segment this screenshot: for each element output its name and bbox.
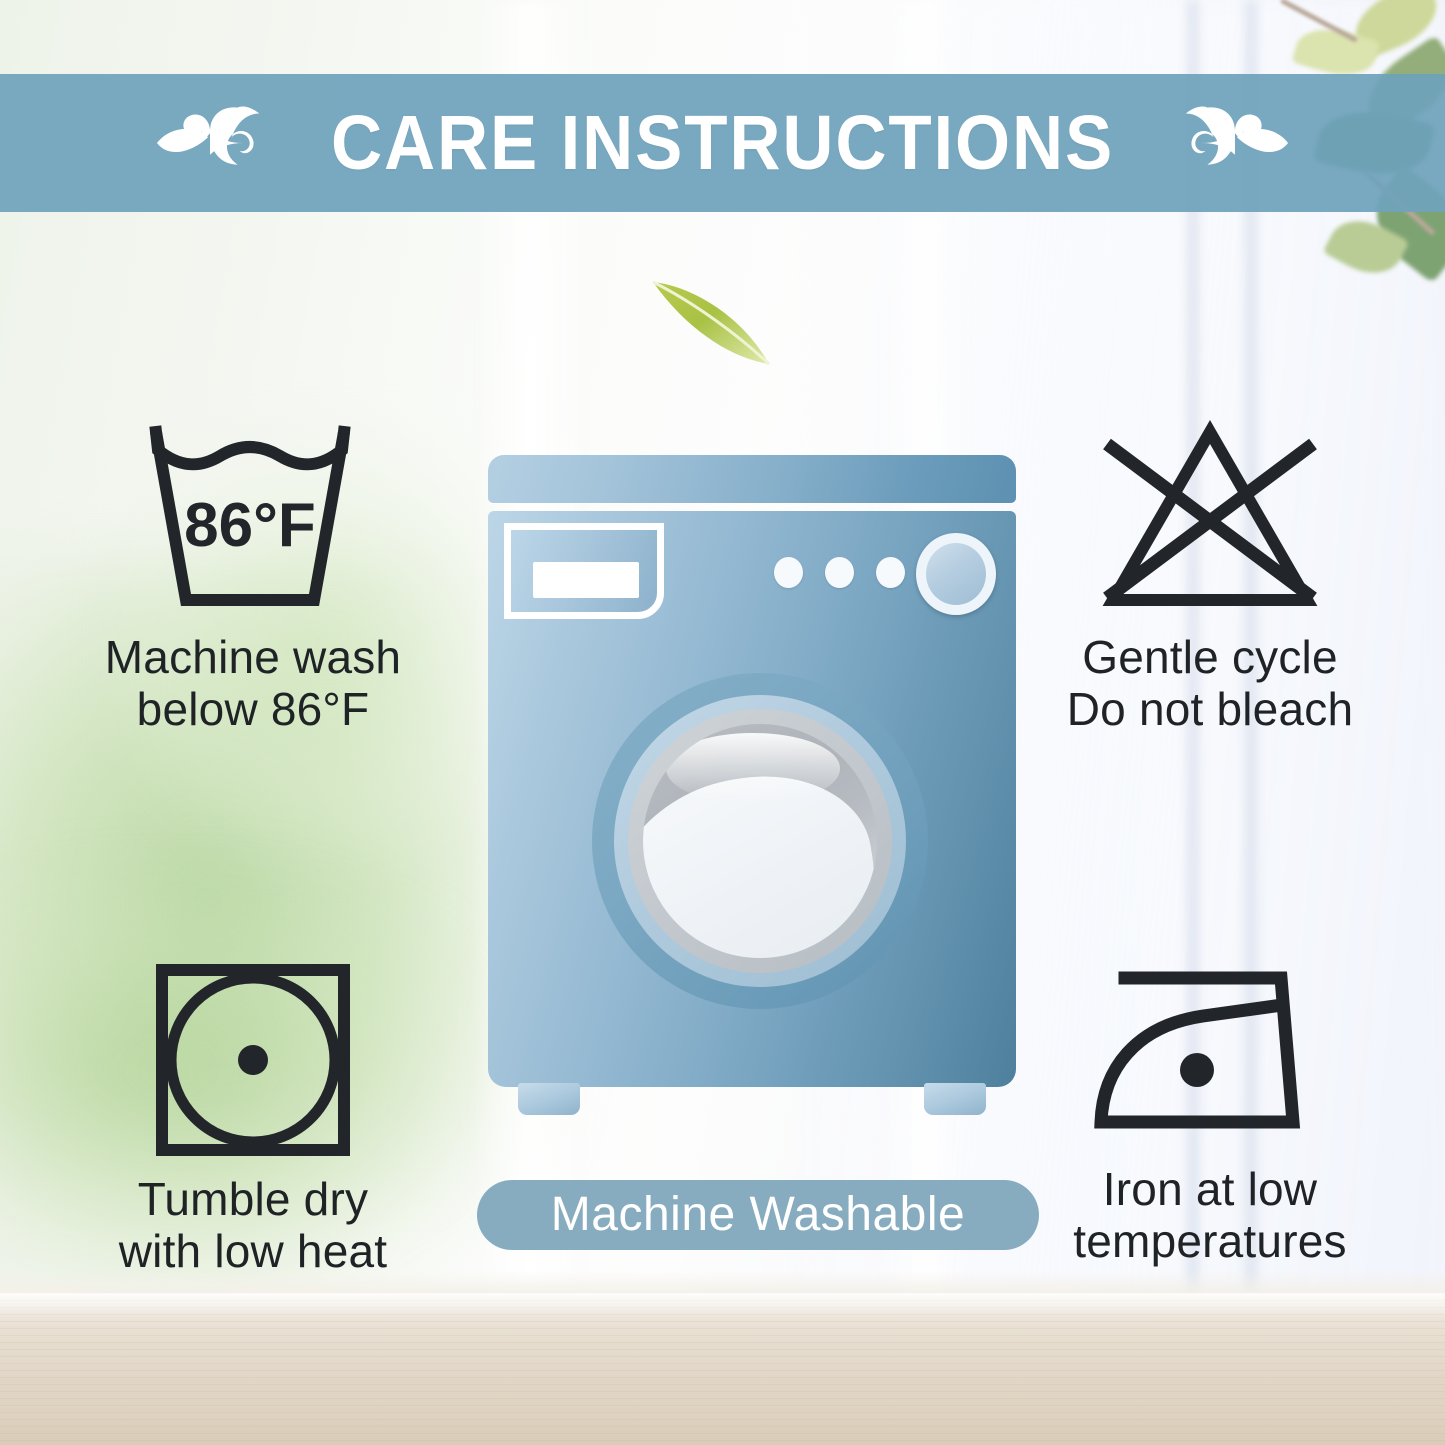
control-knob	[916, 533, 996, 615]
washer-door	[592, 673, 928, 1009]
washer-door-glass-highlight	[666, 733, 839, 803]
tumble-dry-low-icon	[148, 960, 358, 1160]
care-item-tumble-dry: Tumble dry with low heat	[28, 960, 478, 1277]
care-label-tumble-dry: Tumble dry with low heat	[119, 1174, 388, 1277]
fleur-de-lis-icon	[1174, 91, 1292, 195]
washer-body	[488, 511, 1016, 1087]
iron-low-temperature-icon	[1085, 960, 1335, 1150]
page-title: CARE INSTRUCTIONS	[331, 105, 1114, 182]
washer-foot-left	[518, 1083, 580, 1115]
washing-machine-illustration	[482, 455, 1022, 1125]
washer-door-glass	[643, 724, 877, 958]
indicator-light-2	[825, 557, 854, 588]
machine-washable-badge-label: Machine Washable	[551, 1191, 965, 1239]
detergent-drawer	[504, 523, 664, 619]
wooden-table-surface	[0, 1293, 1445, 1445]
indicator-light-1	[774, 557, 803, 588]
indicator-light-3	[876, 557, 905, 588]
washer-door-ring-inner	[628, 709, 892, 973]
care-item-machine-wash: 86°F Machine wash below 86°F	[28, 418, 478, 735]
fleur-de-lis-icon	[153, 91, 271, 195]
care-label-iron-low: Iron at low temperatures	[1073, 1164, 1346, 1267]
washer-foot-right	[924, 1083, 986, 1115]
washer-door-ring-outer	[614, 695, 906, 987]
care-label-do-not-bleach: Gentle cycle Do not bleach	[1067, 632, 1353, 735]
care-instructions-banner: CARE INSTRUCTIONS	[0, 74, 1445, 212]
detergent-drawer-slot	[533, 562, 639, 598]
machine-washable-badge: Machine Washable	[477, 1180, 1039, 1250]
green-leaf-icon	[645, 272, 780, 372]
care-item-iron-low: Iron at low temperatures	[985, 960, 1435, 1267]
care-item-do-not-bleach: Gentle cycle Do not bleach	[985, 418, 1435, 735]
indicator-lights	[774, 557, 905, 588]
control-knob-inner	[926, 543, 986, 605]
care-label-machine-wash: Machine wash below 86°F	[105, 632, 401, 735]
washer-lid	[488, 455, 1016, 503]
wash-tub-icon: 86°F	[128, 418, 378, 618]
do-not-bleach-triangle-icon	[1085, 418, 1335, 618]
wash-temperature-value: 86°F	[184, 491, 316, 560]
